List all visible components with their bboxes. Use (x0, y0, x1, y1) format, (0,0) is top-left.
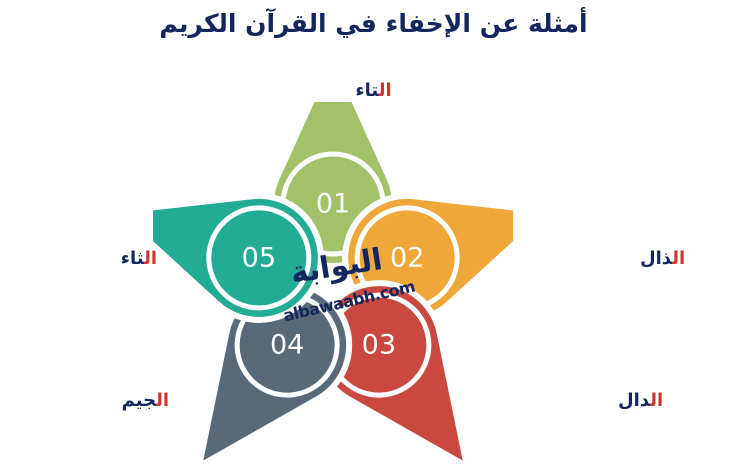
pin-number-04: 04 (270, 330, 304, 361)
petal-label-04-body: دال (618, 390, 650, 411)
petal-label-05-body: ذال (640, 248, 672, 269)
pin-number-02: 02 (390, 242, 424, 273)
pin-flower-diagram: 0102030405 (153, 102, 513, 462)
petal-label-01-article: ال (379, 80, 392, 101)
diagram-stage: التاء الثاء الجيم الدال الذال 0102030405… (0, 60, 747, 467)
petal-label-04-article: ال (650, 390, 663, 411)
petal-label-05-article: ال (672, 248, 685, 269)
petal-label-02-body: ثاء (121, 248, 144, 269)
petal-label-02: الثاء (121, 250, 157, 268)
infographic-canvas: أمثلة عن الإخفاء في القرآن الكريم التاء … (0, 0, 747, 467)
page-title: أمثلة عن الإخفاء في القرآن الكريم (0, 8, 747, 39)
pin-number-03: 03 (362, 330, 396, 361)
pin-number-01: 01 (316, 189, 350, 220)
pin-number-05: 05 (242, 242, 276, 273)
petal-label-01: التاء (0, 82, 747, 100)
petal-label-05: الذال (640, 250, 685, 268)
petal-label-01-body: تاء (355, 80, 378, 101)
petal-label-04: الدال (618, 392, 663, 410)
petal-label-03-body: جيم (122, 390, 156, 411)
